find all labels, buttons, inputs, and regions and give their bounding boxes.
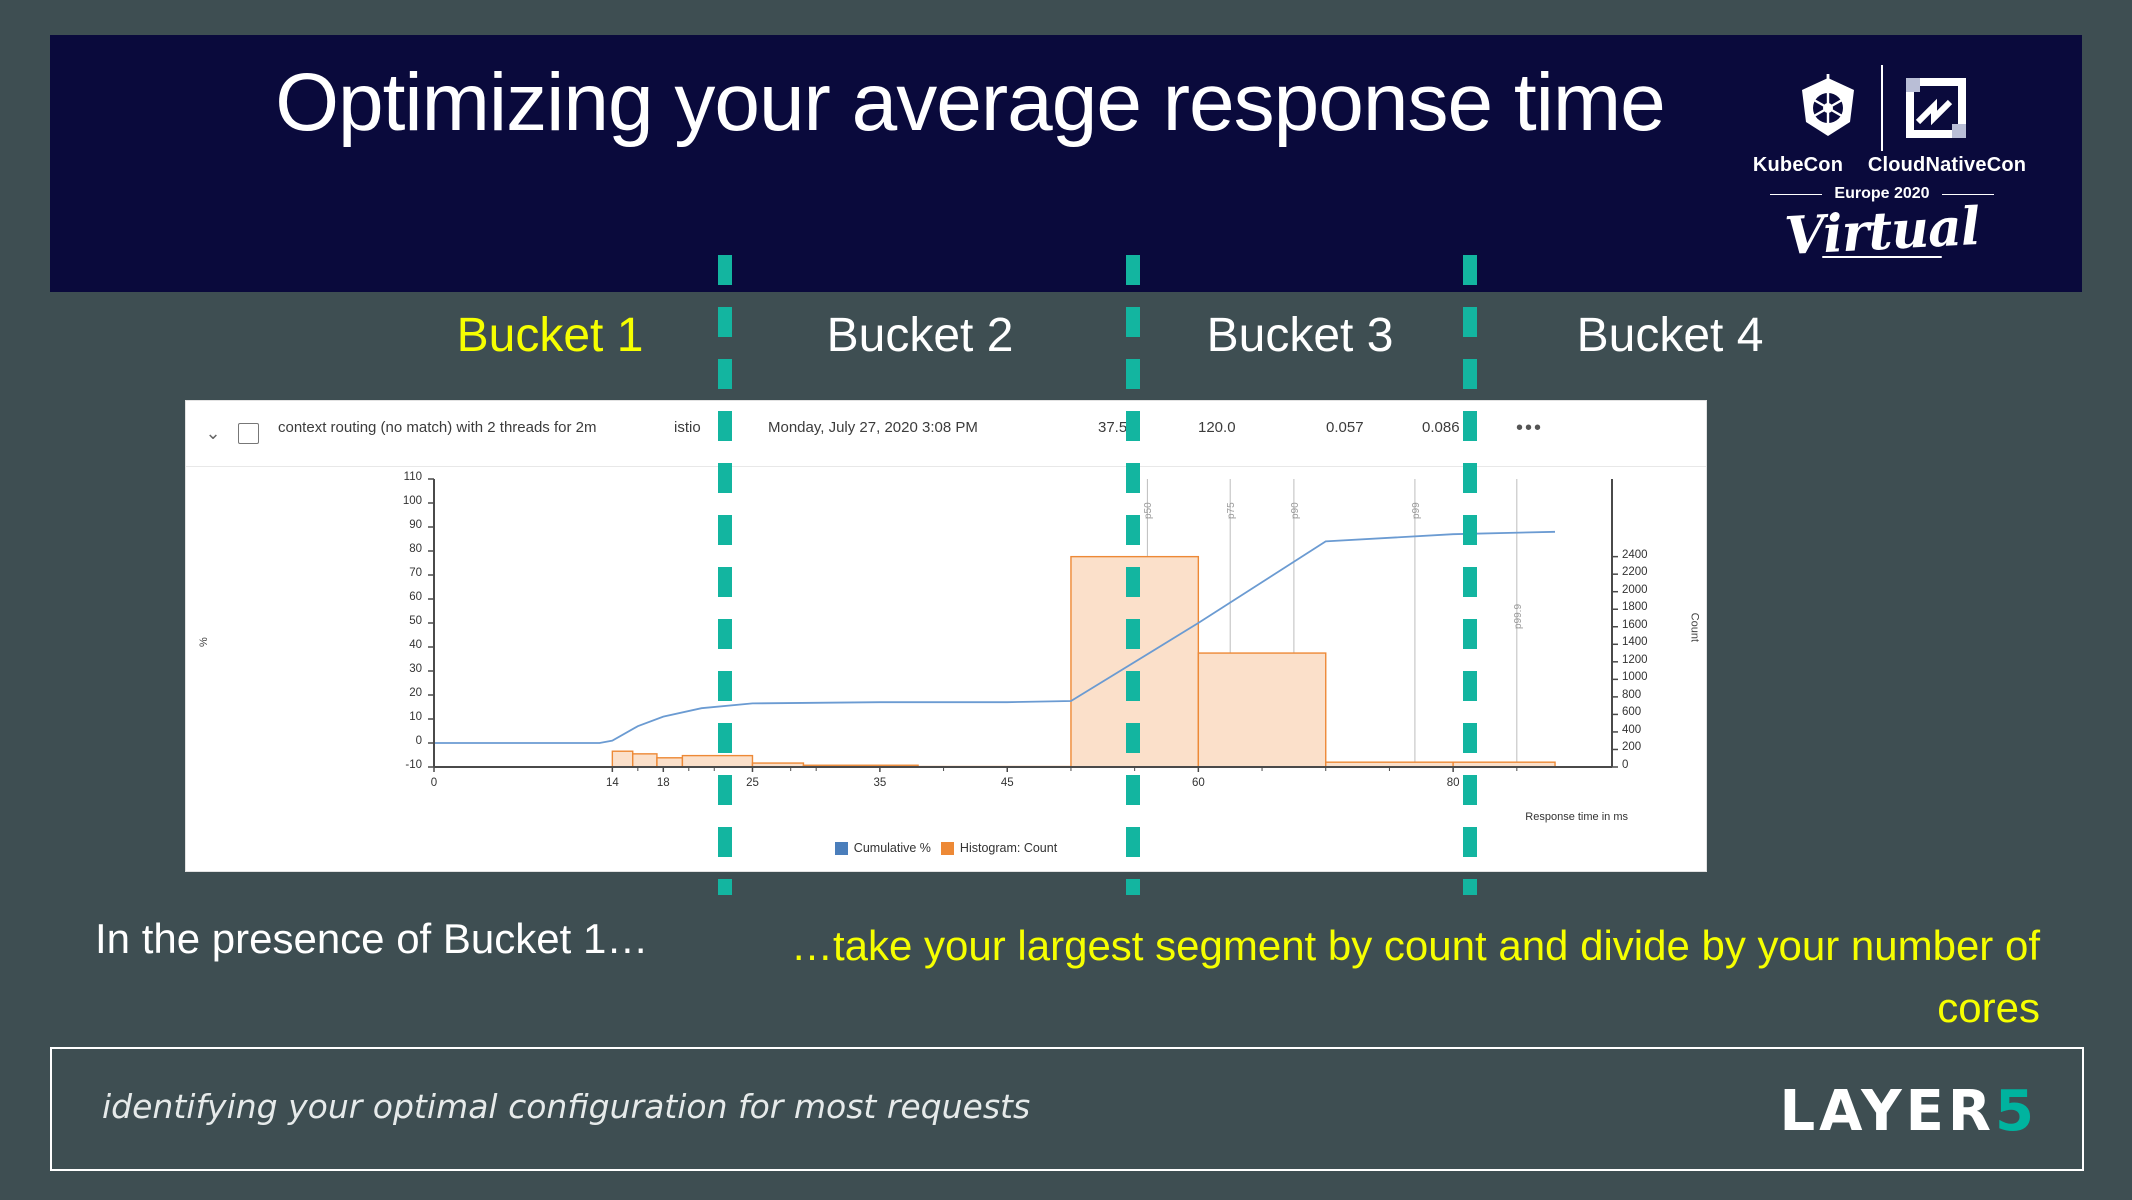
y-tick-right: 200 xyxy=(1622,741,1662,753)
layer5-wordmark: LAYER xyxy=(1779,1079,1995,1144)
x-tick: 0 xyxy=(414,777,454,789)
caption-left: In the presence of Bucket 1… xyxy=(95,915,775,963)
y-tick-right: 1200 xyxy=(1622,654,1662,666)
result-name: context routing (no match) with 2 thread… xyxy=(278,419,596,436)
bucket-label-3: Bucket 3 xyxy=(1175,296,1425,376)
percentile-marker-label: p99.9 xyxy=(1513,604,1524,629)
kubecon-cloudnativecon-logo: KubeCon CloudNativeCon Europe 2020 Virtu… xyxy=(1732,55,2032,280)
result-row[interactable]: ⌄ context routing (no match) with 2 thre… xyxy=(186,401,1706,467)
cloudnativecon-wordmark: CloudNativeCon xyxy=(1863,154,2031,177)
x-axis-label: Response time in ms xyxy=(1525,811,1628,823)
y-tick-left: 30 xyxy=(388,663,422,675)
layer5-five-glyph: 5 xyxy=(1995,1079,2034,1144)
x-tick: 14 xyxy=(592,777,632,789)
x-tick: 35 xyxy=(860,777,900,789)
bucket-label-row: Bucket 1 Bucket 2 Bucket 3 Bucket 4 xyxy=(0,296,2132,376)
logo-marks-row xyxy=(1732,55,2032,160)
legend-swatch xyxy=(941,842,954,855)
bucket-label-2: Bucket 2 xyxy=(795,296,1045,376)
bucket-divider-3 xyxy=(1463,255,1477,895)
result-value-4: 0.086 xyxy=(1422,419,1460,436)
y-tick-right: 0 xyxy=(1622,759,1662,771)
benchmark-result-card: ⌄ context routing (no match) with 2 thre… xyxy=(185,400,1707,872)
result-value-3: 0.057 xyxy=(1326,419,1364,436)
y-tick-left: 20 xyxy=(388,687,422,699)
bucket-divider-2 xyxy=(1126,255,1140,895)
y-tick-left: 60 xyxy=(388,591,422,603)
bucket-divider-1 xyxy=(718,255,732,895)
y-tick-right: 400 xyxy=(1622,724,1662,736)
y-tick-right: 800 xyxy=(1622,689,1662,701)
virtual-script-wordmark: Virtual xyxy=(1731,193,2034,270)
layer5-logo: LAYER 5 xyxy=(1779,1079,2034,1144)
legend-item[interactable]: Histogram: Count xyxy=(941,841,1057,855)
percentile-marker-label: p75 xyxy=(1226,502,1237,519)
row-checkbox[interactable] xyxy=(238,423,259,444)
legend-label: Cumulative % xyxy=(854,841,931,855)
percentile-marker-label: p99 xyxy=(1411,502,1422,519)
more-options-icon[interactable]: ••• xyxy=(1516,417,1543,440)
y-tick-left: 80 xyxy=(388,543,422,555)
kubernetes-helm-icon xyxy=(1789,69,1867,147)
title-banner: Optimizing your average response time xyxy=(50,35,2082,292)
y-tick-left: 90 xyxy=(388,519,422,531)
legend-label: Histogram: Count xyxy=(960,841,1057,855)
result-date: Monday, July 27, 2020 3:08 PM xyxy=(768,419,978,436)
slide-footer: identifying your optimal configuration f… xyxy=(50,1047,2084,1171)
y-axis-left-label: % xyxy=(198,637,210,647)
y-tick-right: 1400 xyxy=(1622,636,1662,648)
y-axis-right-label: Count xyxy=(1688,613,1700,642)
page-title: Optimizing your average response time xyxy=(270,55,1670,151)
result-value-1: 37.5 xyxy=(1098,419,1127,436)
percentile-marker-label: p50 xyxy=(1143,502,1154,519)
x-tick: 60 xyxy=(1178,777,1218,789)
y-tick-left: 50 xyxy=(388,615,422,627)
y-tick-right: 600 xyxy=(1622,706,1662,718)
y-tick-right: 2400 xyxy=(1622,549,1662,561)
rule-right xyxy=(1942,194,1994,195)
logo-divider xyxy=(1881,65,1883,151)
y-tick-right: 2000 xyxy=(1622,584,1662,596)
cloudnative-square-icon xyxy=(1897,69,1975,147)
kubecon-wordmark: KubeCon xyxy=(1733,154,1863,177)
y-tick-right: 1800 xyxy=(1622,601,1662,613)
y-tick-left: 40 xyxy=(388,639,422,651)
y-tick-left: 0 xyxy=(388,735,422,747)
chevron-down-icon[interactable]: ⌄ xyxy=(203,423,223,443)
y-tick-left: -10 xyxy=(388,759,422,771)
result-mesh: istio xyxy=(674,419,701,436)
bucket-label-1: Bucket 1 xyxy=(430,296,670,376)
x-tick: 25 xyxy=(732,777,772,789)
percentile-marker-label: p90 xyxy=(1290,502,1301,519)
y-tick-left: 100 xyxy=(388,495,422,507)
y-tick-right: 1600 xyxy=(1622,619,1662,631)
caption-right: …take your largest segment by count and … xyxy=(790,915,2040,1039)
legend-item[interactable]: Cumulative % xyxy=(835,841,931,855)
chart-legend: Cumulative %Histogram: Count xyxy=(186,841,1706,855)
rule-left xyxy=(1770,194,1822,195)
x-tick: 45 xyxy=(987,777,1027,789)
footer-subtitle: identifying your optimal configuration f… xyxy=(102,1087,1030,1126)
x-tick: 18 xyxy=(643,777,683,789)
result-value-2: 120.0 xyxy=(1198,419,1236,436)
y-tick-left: 70 xyxy=(388,567,422,579)
bucket-label-4: Bucket 4 xyxy=(1425,296,1915,376)
logo-names-row: KubeCon CloudNativeCon xyxy=(1732,154,2032,177)
y-tick-left: 10 xyxy=(388,711,422,723)
response-time-histogram-chart: % Count Response time in ms -10010203040… xyxy=(186,467,1706,871)
slide-root: Optimizing your average response time xyxy=(0,0,2132,1200)
y-tick-right: 1000 xyxy=(1622,671,1662,683)
legend-swatch xyxy=(835,842,848,855)
y-tick-right: 2200 xyxy=(1622,566,1662,578)
y-tick-left: 110 xyxy=(388,471,422,483)
